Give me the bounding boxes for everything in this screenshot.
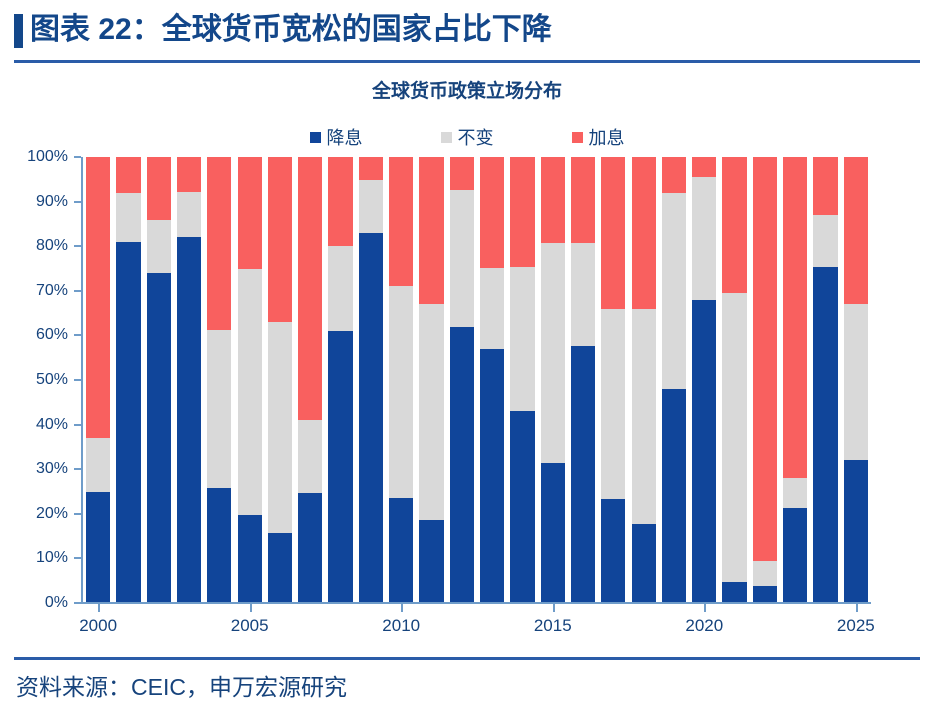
bar-2002 xyxy=(147,157,171,603)
segment-cut-2000 xyxy=(86,492,110,603)
bar-2011 xyxy=(419,157,443,603)
figure-page: 图表 22：全球货币宽松的国家占比下降 全球货币政策立场分布 降息不变加息 0%… xyxy=(0,0,934,722)
segment-hike-2007 xyxy=(298,157,322,420)
bar-2023 xyxy=(783,157,807,603)
segment-hold-2020 xyxy=(692,177,716,300)
chart-legend: 降息不变加息 xyxy=(0,124,934,150)
segment-hold-2016 xyxy=(571,243,595,346)
bar-2014 xyxy=(510,157,534,603)
segment-hold-2025 xyxy=(844,304,868,460)
segment-hold-2021 xyxy=(722,293,746,582)
segment-hold-2024 xyxy=(813,215,837,267)
segment-cut-2012 xyxy=(450,327,474,603)
segment-cut-2022 xyxy=(753,586,777,603)
bar-2004 xyxy=(207,157,231,603)
y-axis-tick-10 xyxy=(74,557,81,559)
y-axis-tick-label-80: 80% xyxy=(36,237,68,255)
segment-hike-2025 xyxy=(844,157,868,304)
bar-2015 xyxy=(541,157,565,603)
y-axis-tick-label-0: 0% xyxy=(45,594,68,612)
segment-hold-2019 xyxy=(662,193,686,389)
legend-label-1: 不变 xyxy=(458,124,494,150)
y-axis-tick-label-90: 90% xyxy=(36,193,68,211)
bar-2012 xyxy=(450,157,474,603)
y-axis-tick-100 xyxy=(74,156,81,158)
y-axis-tick-30 xyxy=(74,468,81,470)
segment-hike-2010 xyxy=(389,157,413,286)
segment-hike-2015 xyxy=(541,157,565,243)
x-axis-line xyxy=(81,602,871,604)
bar-2017 xyxy=(601,157,625,603)
bar-2007 xyxy=(298,157,322,603)
y-axis-tick-60 xyxy=(74,334,81,336)
segment-cut-2021 xyxy=(722,582,746,603)
legend-item-0: 降息 xyxy=(310,124,363,150)
y-axis-tick-label-20: 20% xyxy=(36,505,68,523)
segment-hold-2017 xyxy=(601,309,625,499)
y-axis-tick-label-30: 30% xyxy=(36,460,68,478)
segment-hike-2021 xyxy=(722,157,746,293)
segment-cut-2005 xyxy=(238,515,262,603)
segment-hold-2003 xyxy=(177,192,201,237)
legend-item-2: 加息 xyxy=(572,124,625,150)
x-axis-tick-2020 xyxy=(704,604,706,612)
segment-hold-2014 xyxy=(510,267,534,411)
legend-swatch-hold xyxy=(441,132,452,143)
bar-2022 xyxy=(753,157,777,603)
x-axis-tick-label-2025: 2025 xyxy=(837,616,875,636)
segment-cut-2008 xyxy=(328,331,352,603)
y-axis-tick-label-60: 60% xyxy=(36,326,68,344)
segment-hike-2011 xyxy=(419,157,443,304)
legend-swatch-cut xyxy=(310,132,321,143)
segment-cut-2020 xyxy=(692,300,716,603)
bar-2003 xyxy=(177,157,201,603)
segment-hike-2024 xyxy=(813,157,837,215)
header-divider xyxy=(14,60,920,63)
footer-divider xyxy=(14,657,920,660)
segment-cut-2011 xyxy=(419,520,443,603)
x-axis-tick-2005 xyxy=(250,604,252,612)
segment-cut-2023 xyxy=(783,508,807,603)
segment-hold-2011 xyxy=(419,304,443,519)
segment-hold-2010 xyxy=(389,286,413,498)
bar-2009 xyxy=(359,157,383,603)
segment-hold-2012 xyxy=(450,190,474,327)
segment-cut-2017 xyxy=(601,499,625,603)
segment-hold-2008 xyxy=(328,246,352,331)
segment-hold-2009 xyxy=(359,180,383,233)
segment-hold-2002 xyxy=(147,220,171,273)
legend-label-2: 加息 xyxy=(589,124,625,150)
segment-hike-2023 xyxy=(783,157,807,478)
page-title: 图表 22：全球货币宽松的国家占比下降 xyxy=(30,8,552,52)
segment-hold-2018 xyxy=(632,309,656,524)
segment-cut-2015 xyxy=(541,463,565,603)
segment-hold-2001 xyxy=(116,193,140,242)
y-axis-tick-40 xyxy=(74,424,81,426)
legend-item-1: 不变 xyxy=(441,124,494,150)
segment-cut-2006 xyxy=(268,533,292,603)
bar-2025 xyxy=(844,157,868,603)
segment-cut-2003 xyxy=(177,237,201,603)
x-axis-tick-2010 xyxy=(401,604,403,612)
segment-hike-2006 xyxy=(268,157,292,322)
bar-2000 xyxy=(86,157,110,603)
segment-hike-2012 xyxy=(450,157,474,190)
segment-hold-2015 xyxy=(541,243,565,463)
x-axis-tick-2025 xyxy=(856,604,858,612)
segment-cut-2001 xyxy=(116,242,140,603)
y-axis-tick-label-100: 100% xyxy=(27,148,68,166)
segment-hike-2013 xyxy=(480,157,504,268)
x-axis-tick-2015 xyxy=(553,604,555,612)
segment-hike-2016 xyxy=(571,157,595,243)
figure-header: 图表 22：全球货币宽松的国家占比下降 xyxy=(0,0,934,64)
bar-2019 xyxy=(662,157,686,603)
segment-hike-2001 xyxy=(116,157,140,193)
segment-cut-2024 xyxy=(813,267,837,603)
segment-hike-2014 xyxy=(510,157,534,267)
bar-series-container xyxy=(83,157,871,603)
bar-2021 xyxy=(722,157,746,603)
x-axis-tick-label-2000: 2000 xyxy=(79,616,117,636)
segment-cut-2004 xyxy=(207,488,231,603)
y-axis-tick-70 xyxy=(74,290,81,292)
segment-hold-2005 xyxy=(238,269,262,515)
bar-2018 xyxy=(632,157,656,603)
segment-hold-2013 xyxy=(480,268,504,349)
segment-cut-2016 xyxy=(571,346,595,603)
x-axis-tick-label-2020: 2020 xyxy=(685,616,723,636)
bar-2006 xyxy=(268,157,292,603)
segment-hike-2004 xyxy=(207,157,231,330)
chart-plot-area: 0%10%20%30%40%50%60%70%80%90%100% 200020… xyxy=(0,150,934,650)
segment-hike-2020 xyxy=(692,157,716,177)
segment-cut-2013 xyxy=(480,349,504,603)
segment-hike-2017 xyxy=(601,157,625,309)
segment-cut-2009 xyxy=(359,233,383,603)
y-axis-tick-0 xyxy=(74,602,81,604)
segment-hold-2000 xyxy=(86,438,110,492)
segment-hike-2005 xyxy=(238,157,262,269)
segment-hold-2006 xyxy=(268,322,292,533)
x-axis-tick-label-2005: 2005 xyxy=(231,616,269,636)
y-axis-tick-20 xyxy=(74,513,81,515)
segment-hike-2009 xyxy=(359,157,383,180)
segment-cut-2010 xyxy=(389,498,413,603)
segment-cut-2018 xyxy=(632,524,656,603)
segment-hold-2007 xyxy=(298,420,322,494)
segment-hike-2003 xyxy=(177,157,201,192)
segment-hike-2018 xyxy=(632,157,656,309)
x-axis-tick-label-2015: 2015 xyxy=(534,616,572,636)
bar-2010 xyxy=(389,157,413,603)
bar-2020 xyxy=(692,157,716,603)
bar-2001 xyxy=(116,157,140,603)
segment-hike-2019 xyxy=(662,157,686,193)
y-axis-tick-label-50: 50% xyxy=(36,371,68,389)
segment-cut-2007 xyxy=(298,493,322,603)
legend-swatch-hike xyxy=(572,132,583,143)
x-axis-tick-2000 xyxy=(98,604,100,612)
bar-2024 xyxy=(813,157,837,603)
x-axis-tick-label-2010: 2010 xyxy=(382,616,420,636)
y-axis-tick-label-70: 70% xyxy=(36,282,68,300)
segment-hike-2008 xyxy=(328,157,352,246)
bar-2013 xyxy=(480,157,504,603)
source-note: 资料来源：CEIC，申万宏源研究 xyxy=(16,668,347,702)
segment-hike-2002 xyxy=(147,157,171,220)
bar-2008 xyxy=(328,157,352,603)
segment-cut-2019 xyxy=(662,389,686,603)
bar-2016 xyxy=(571,157,595,603)
y-axis-tick-label-40: 40% xyxy=(36,416,68,434)
segment-hold-2022 xyxy=(753,561,777,586)
segment-hold-2004 xyxy=(207,330,231,488)
segment-hike-2000 xyxy=(86,157,110,438)
segment-cut-2014 xyxy=(510,411,534,603)
y-axis-tick-80 xyxy=(74,245,81,247)
y-axis-labels: 0%10%20%30%40%50%60%70%80%90%100% xyxy=(6,150,74,610)
segment-cut-2025 xyxy=(844,460,868,603)
segment-hold-2023 xyxy=(783,478,807,507)
chart-title: 全球货币政策立场分布 xyxy=(0,76,934,103)
segment-cut-2002 xyxy=(147,273,171,603)
y-axis-tick-50 xyxy=(74,379,81,381)
header-accent-bar xyxy=(14,14,23,48)
y-axis-tick-90 xyxy=(74,201,81,203)
segment-hike-2022 xyxy=(753,157,777,561)
legend-label-0: 降息 xyxy=(327,124,363,150)
y-axis-tick-label-10: 10% xyxy=(36,549,68,567)
bar-2005 xyxy=(238,157,262,603)
